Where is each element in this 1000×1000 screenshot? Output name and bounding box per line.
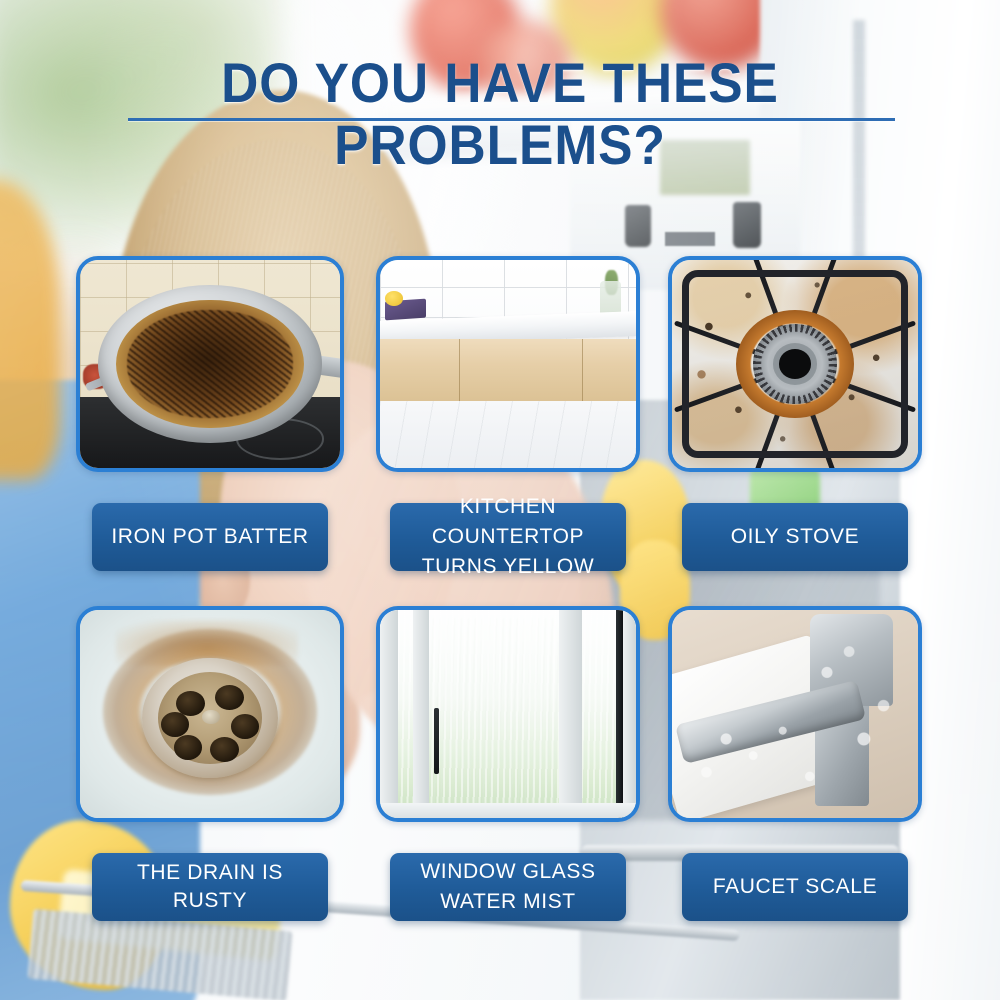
photo-drain-rusty[interactable] — [76, 606, 344, 822]
photo-drain-rusty-art — [80, 610, 340, 818]
problems-grid: IRON POT BATTER — [0, 0, 1000, 1000]
photo-kitchen-countertop-art — [380, 260, 636, 468]
label-kitchen-countertop[interactable]: KITCHEN COUNTERTOP TURNS YELLOW — [390, 503, 626, 571]
photo-faucet-scale-art — [672, 610, 918, 818]
label-line-1: WINDOW GLASS — [420, 857, 595, 887]
window-sill — [380, 803, 636, 818]
photo-oily-stove[interactable] — [668, 256, 922, 472]
label-drain-rusty[interactable]: THE DRAIN IS RUSTY — [92, 853, 328, 921]
label-iron-pot-batter[interactable]: IRON POT BATTER — [92, 503, 328, 571]
cabinet-seam-1 — [459, 339, 460, 401]
drain-hole-6 — [161, 712, 190, 737]
window-dark-edge — [616, 610, 624, 818]
marble-veining — [380, 401, 636, 468]
drain-hole-2 — [215, 685, 244, 710]
label-oily-stove[interactable]: OILY STOVE — [682, 503, 908, 571]
limescale-spots — [672, 610, 918, 818]
window-mullion-left — [413, 610, 428, 818]
label-window-mist[interactable]: WINDOW GLASS WATER MIST — [390, 853, 626, 921]
drain-hole-3 — [231, 714, 260, 739]
drain-hole-4 — [210, 737, 239, 762]
cabinet-seam-2 — [582, 339, 583, 401]
photo-iron-pot-batter-art — [80, 260, 340, 468]
photo-window-mist-art — [380, 610, 636, 818]
infographic-overlay: DO YOU HAVE THESE PROBLEMS? IRON POT B — [0, 0, 1000, 1000]
stove-grate-frame — [682, 270, 908, 457]
label-line-2: WATER MIST — [440, 887, 576, 917]
photo-iron-pot-batter[interactable] — [76, 256, 344, 472]
window-frame-right — [623, 610, 636, 818]
label-faucet-scale[interactable]: FAUCET SCALE — [682, 853, 908, 921]
window-frame-left — [380, 610, 398, 818]
photo-window-mist[interactable] — [376, 606, 640, 822]
lemon — [385, 291, 403, 306]
window-mullion-right — [559, 610, 582, 818]
drain-hole-5 — [174, 735, 203, 760]
photo-kitchen-countertop[interactable] — [376, 256, 640, 472]
burnt-residue — [127, 310, 293, 418]
photo-oily-stove-art — [672, 260, 918, 468]
label-line-1: KITCHEN COUNTERTOP — [400, 492, 616, 552]
label-line-2: TURNS YELLOW — [422, 552, 595, 582]
window-handle — [434, 708, 439, 775]
photo-faucet-scale[interactable] — [668, 606, 922, 822]
wood-cabinet-fronts — [380, 339, 636, 401]
